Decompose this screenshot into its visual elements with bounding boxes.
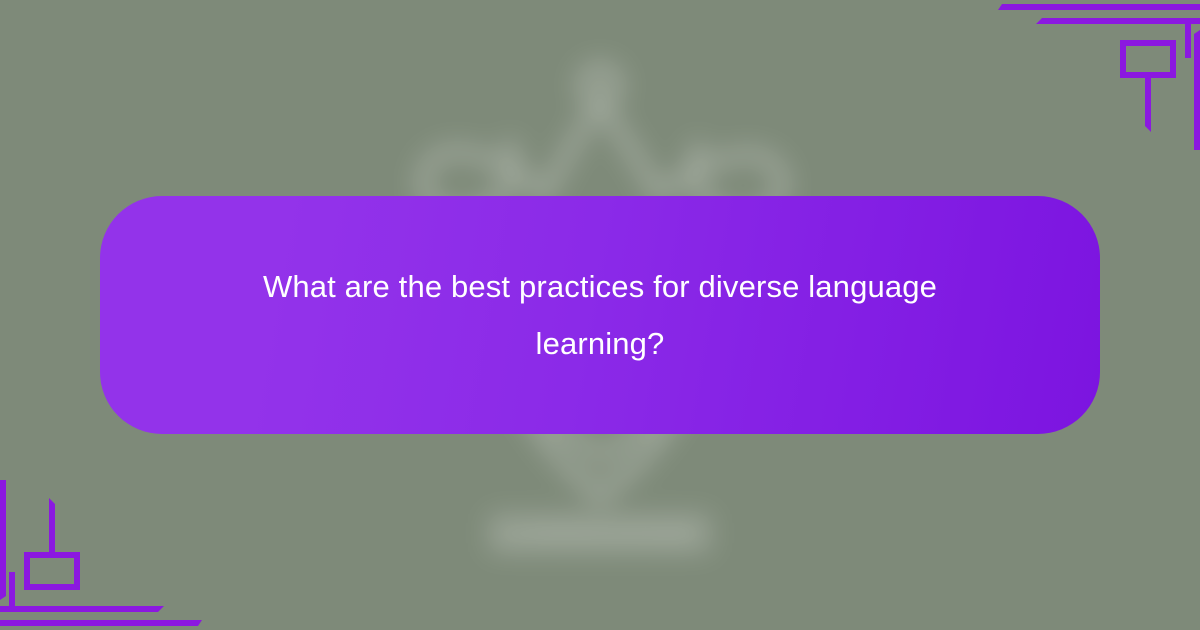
question-title: What are the best practices for diverse … xyxy=(260,258,940,372)
corner-bracket-circuit-icon-top-right xyxy=(980,0,1200,150)
question-card: What are the best practices for diverse … xyxy=(100,196,1100,434)
corner-bracket-circuit-icon-bottom-left xyxy=(0,480,220,630)
social-share-card: LANGUAGE What are th xyxy=(0,0,1200,630)
watermark-label: LANGUAGE xyxy=(503,520,698,551)
